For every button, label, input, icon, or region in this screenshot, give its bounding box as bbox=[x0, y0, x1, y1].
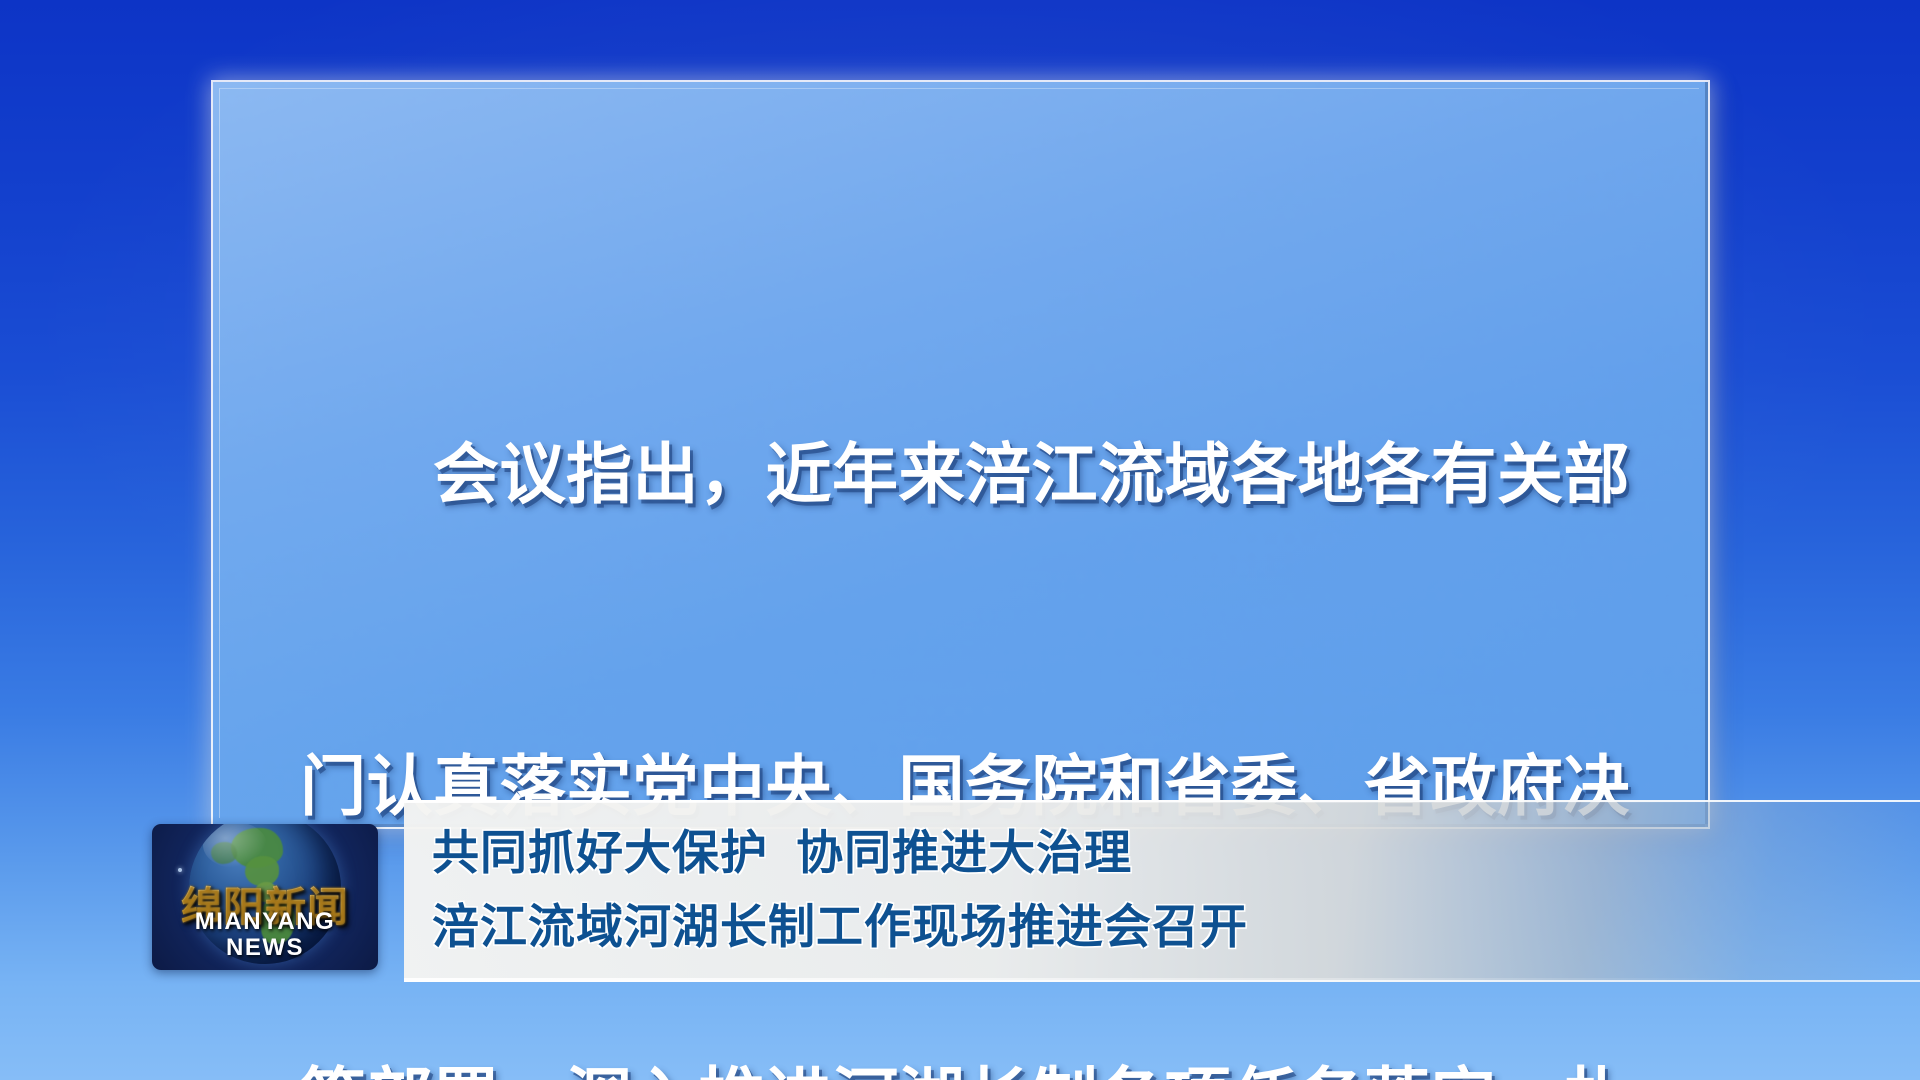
globe-highlight bbox=[203, 824, 267, 868]
caption-band-bottom-edge bbox=[404, 978, 1920, 982]
broadcast-screen: 会议指出，近年来涪江流域各地各有关部 门认真落实党中央、国务院和省委、省政府决 … bbox=[0, 0, 1920, 1080]
caption-subheadline: 涪江流域河湖长制工作现场推进会召开 bbox=[432, 890, 1248, 964]
caption-band-top-edge bbox=[404, 800, 1920, 803]
logo-star-icon bbox=[178, 868, 182, 872]
body-text-line-3: 策部署，深入推进河湖长制各项任务落实，扎 bbox=[300, 1046, 1620, 1080]
lower-third-caption-band: 共同抓好大保护 协同推进大治理 涪江流域河湖长制工作现场推进会召开 bbox=[404, 800, 1920, 982]
caption-headline: 共同抓好大保护 协同推进大治理 bbox=[432, 816, 1248, 890]
channel-logo: 绵阳新闻 MIANYANG NEWS bbox=[152, 824, 378, 970]
channel-name-en: MIANYANG NEWS bbox=[152, 909, 378, 961]
body-text-line-1: 会议指出，近年来涪江流域各地各有关部 bbox=[300, 422, 1620, 526]
caption-text-block: 共同抓好大保护 协同推进大治理 涪江流域河湖长制工作现场推进会召开 bbox=[432, 816, 1248, 964]
